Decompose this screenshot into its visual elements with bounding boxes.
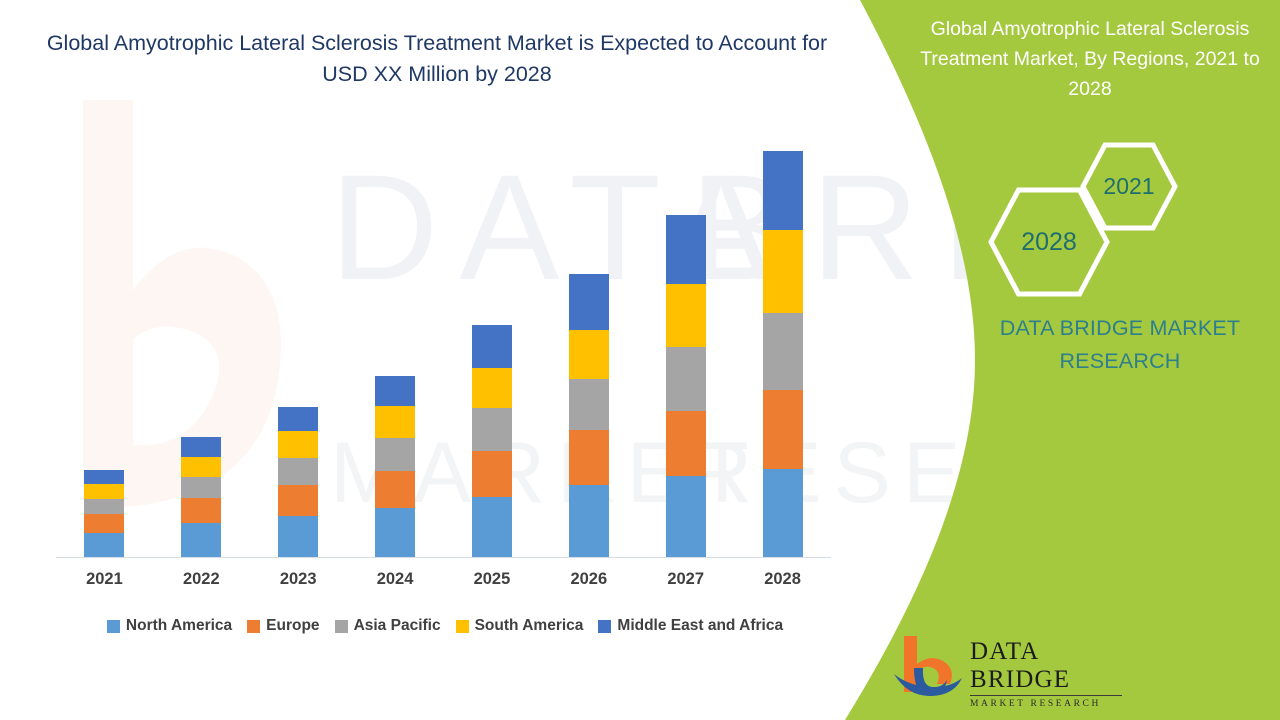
right-panel-title: Global Amyotrophic Lateral Sclerosis Tre… (915, 14, 1265, 104)
logo-divider (970, 695, 1122, 696)
infographic-canvas: DATA BRIDGE MARKET RESEARCH Global Amyot… (0, 0, 1280, 720)
brand-name-block: DATA BRIDGE MARKET RESEARCH (975, 312, 1265, 378)
hexagon-badge-2021-label: 2021 (1103, 173, 1154, 200)
hexagon-badge-2028-label: 2028 (1021, 228, 1077, 257)
brand-line-2: RESEARCH (975, 345, 1265, 378)
brand-line-1: DATA BRIDGE MARKET (975, 312, 1265, 345)
databridge-logo: DATA BRIDGE MARKET RESEARCH (892, 634, 1122, 700)
hexagon-badge-2021: 2021 (1080, 142, 1178, 231)
databridge-logo-mark-icon (892, 634, 964, 698)
logo-wordmark: DATA BRIDGE MARKET RESEARCH (970, 638, 1130, 710)
logo-secondary-text: MARKET RESEARCH (970, 698, 1130, 710)
logo-primary-text: DATA BRIDGE (970, 638, 1130, 694)
